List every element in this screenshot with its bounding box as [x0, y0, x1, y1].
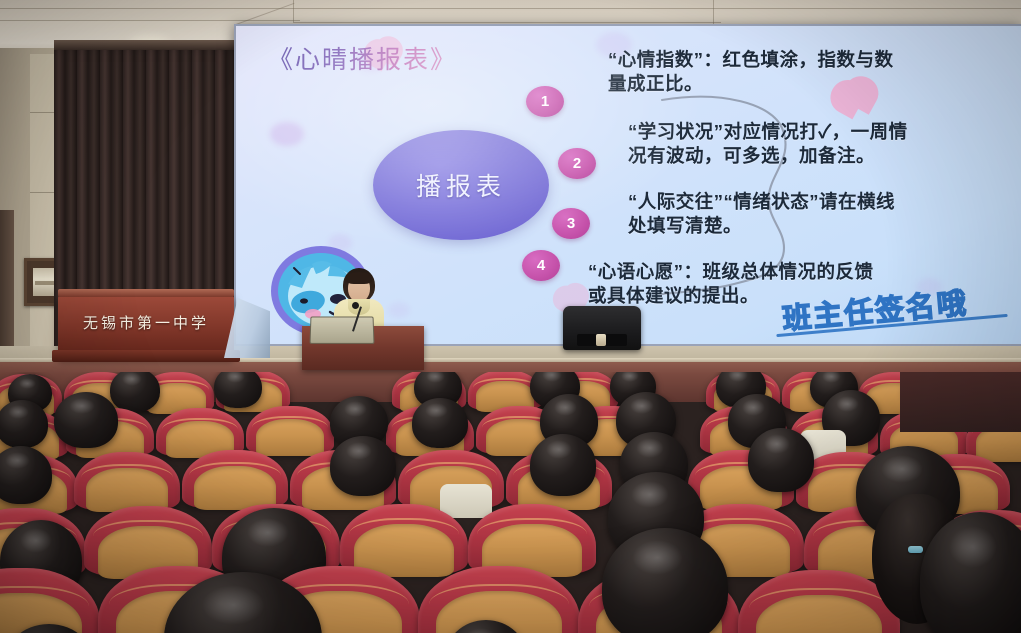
bubble-number-1: 1 [526, 86, 564, 117]
lectern-with-sign: 无锡市第一中学 [58, 296, 234, 358]
seat [156, 408, 244, 456]
decorative-blob [388, 302, 410, 318]
bullet-text-2: “学习状况”对应情况打✓，一周情 况有波动，可多选，加备注。 [628, 120, 1021, 168]
stage-small-object [596, 334, 606, 346]
presenter-bangs [346, 272, 372, 284]
screenshot-root: 《心晴播报表》 播报表 1 2 3 4 “心情指数”：红色填涂，指数与数 量成正… [0, 0, 1021, 633]
laptop-on-podium [310, 317, 375, 344]
audience-head [748, 428, 814, 492]
bubble-4-label: 4 [537, 257, 545, 274]
bubble-2-label: 2 [573, 155, 581, 172]
audience-head [330, 436, 396, 496]
central-hub-ellipse: 播报表 [373, 130, 549, 240]
bubble-1-label: 1 [541, 93, 549, 110]
audience-head [214, 372, 262, 408]
audience-seating [0, 372, 1021, 633]
seat [74, 452, 180, 510]
bubble-3-label: 3 [567, 215, 575, 232]
audience-head [54, 392, 118, 448]
seat [182, 450, 288, 508]
slide-title: 《心晴播报表》 [268, 40, 457, 76]
audience-head [412, 398, 468, 448]
hair-clip [908, 546, 923, 553]
audience-shirt [440, 484, 492, 518]
podium-sign-text: 无锡市第一中学 [66, 312, 226, 333]
decorative-blob [270, 122, 304, 146]
microphone-head [352, 302, 359, 309]
audience-head [0, 400, 48, 448]
bullet-text-1: “心情指数”：红色填涂，指数与数 量成正比。 [608, 48, 1008, 96]
bubble-number-3: 3 [552, 208, 590, 239]
bullet-text-3: “人际交往”“情绪状态”请在横线 处填写清楚。 [628, 190, 1021, 238]
seat [468, 504, 596, 574]
bubble-number-2: 2 [558, 148, 596, 179]
audience-head [110, 372, 160, 412]
audience-head [530, 434, 596, 496]
right-side-wall [900, 372, 1021, 432]
seat [246, 406, 334, 454]
seat [340, 504, 468, 574]
bubble-number-4: 4 [522, 250, 560, 281]
hub-label: 播报表 [416, 167, 506, 203]
curtain-valance [54, 40, 246, 50]
